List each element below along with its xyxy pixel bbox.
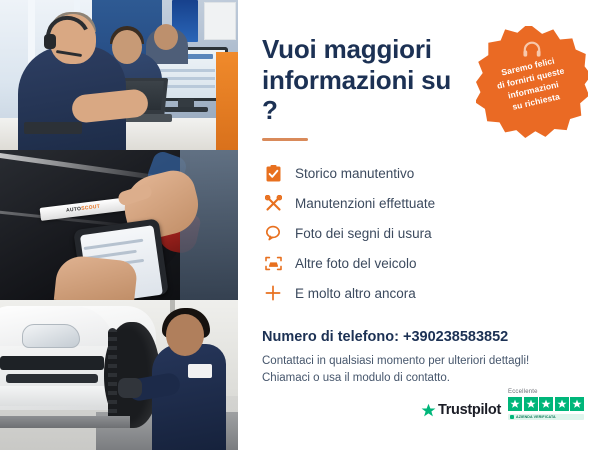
tools-cross-icon [262, 193, 284, 213]
star [524, 397, 538, 411]
page-title: Vuoi maggiori informazioni su ? [262, 34, 472, 126]
strip-brand-label: AUTOSCOUT [66, 204, 101, 214]
vehicle-lift-arm [0, 416, 130, 428]
contact-copy-line-1: Contattaci in qualsiasi momento per ulte… [262, 353, 578, 370]
headline-line-1: Vuoi maggiori [262, 34, 432, 64]
device-holding-hand [54, 254, 138, 300]
monitor-base [164, 107, 208, 112]
trustpilot-rating-block: Eccellente [508, 389, 584, 420]
car-headlight [22, 324, 80, 348]
feature-list: Storico manutentivo Manutenzioni effettu… [262, 159, 578, 307]
contact-copy-line-2: Chiamaci o usa il modulo di contatto. [262, 370, 578, 387]
mechanic-glove [118, 378, 142, 398]
feature-item-service-history[interactable]: Storico manutentivo [262, 159, 578, 187]
feature-item-vehicle-photos[interactable]: Altre foto del veicolo [262, 249, 578, 277]
mechanic-head [166, 314, 204, 356]
trustpilot-widget[interactable]: Trustpilot Eccellente [421, 389, 584, 420]
star [570, 397, 584, 411]
feature-item-more[interactable]: E molto altro ancora [262, 279, 578, 307]
car-lower-grille [6, 374, 98, 383]
promo-banner: AUTOSCOUT [0, 0, 600, 450]
feature-item-wear-photos[interactable]: Foto dei segni di usura [262, 219, 578, 247]
feature-item-maintenance-done[interactable]: Manutenzioni effettuate [262, 189, 578, 217]
headline-line-2: informazioni su ? [262, 65, 472, 126]
check-icon [510, 415, 514, 419]
star [539, 397, 553, 411]
verified-business-badge: AZIENDA VERIFICATA [508, 414, 584, 420]
desk-mousepad [24, 122, 82, 134]
tyre-tread [108, 328, 117, 422]
star [508, 397, 522, 411]
clipboard-check-icon [262, 163, 284, 183]
star [555, 397, 569, 411]
trustpilot-logo: Trustpilot [421, 402, 501, 420]
mechanic-body [152, 344, 226, 450]
trustpilot-rating-label: Eccellente [508, 389, 584, 395]
content-panel: Vuoi maggiori informazioni su ? Saremo f… [238, 0, 600, 450]
vehicle-inspection-strip-photo: AUTOSCOUT [0, 150, 238, 300]
car-grille [0, 356, 104, 370]
headset-icon [521, 40, 543, 58]
feature-label: Altre foto del veicolo [295, 256, 417, 271]
trustpilot-star-icon [421, 403, 436, 418]
plus-icon [262, 283, 284, 303]
speech-bubble-icon [262, 223, 284, 243]
feature-label: Storico manutentivo [295, 166, 414, 181]
car-frame-icon [262, 253, 284, 273]
photo-column: AUTOSCOUT [0, 0, 238, 450]
trustpilot-stars [508, 397, 584, 411]
mechanic-uniform-badge [188, 364, 212, 378]
background-agent-3-head [154, 24, 178, 50]
trustpilot-name: Trustpilot [438, 402, 501, 418]
verified-label: AZIENDA VERIFICATA [516, 415, 556, 419]
wall-poster-2 [204, 2, 236, 40]
feature-label: E molto altro ancora [295, 286, 416, 301]
call-centre-agents-photo [0, 0, 238, 150]
headset-earcup [44, 34, 56, 49]
callout-badge: Saremo felici di fornirti queste informa… [476, 26, 588, 138]
feature-label: Foto dei segni di usura [295, 226, 432, 241]
mechanic-wheel-check-photo [0, 300, 238, 450]
phone-number[interactable]: Numero di telefono: +390238583852 [262, 329, 578, 345]
title-divider [262, 138, 308, 141]
orange-panel [216, 52, 238, 150]
background-agent-2-head [112, 30, 142, 64]
contact-copy: Contattaci in qualsiasi momento per ulte… [262, 353, 578, 388]
feature-label: Manutenzioni effettuate [295, 196, 435, 211]
